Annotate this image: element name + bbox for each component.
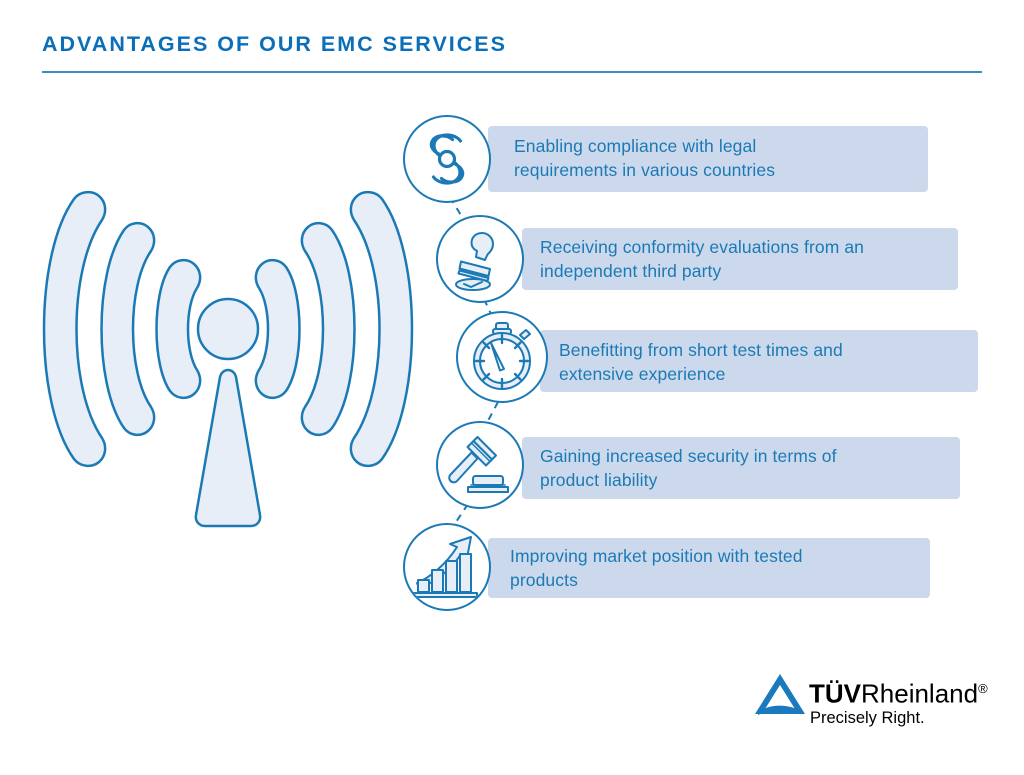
gavel-icon [438, 423, 522, 507]
logo-brand-bold: TÜV [809, 679, 861, 709]
advantage-text-2: Receiving conformity evaluations from an… [540, 236, 970, 283]
advantage-icon-5[interactable] [403, 523, 491, 611]
logo-wordmark: TÜVRheinland® [809, 674, 988, 709]
advantage-text-1: Enabling compliance with legal requireme… [514, 135, 934, 182]
advantage-icon-2[interactable] [436, 215, 524, 303]
slide-canvas: ADVANTAGES OF OUR EMC SERVICES [0, 0, 1024, 775]
advantages-list: Enabling compliance with legal requireme… [0, 0, 1024, 775]
advantage-text-4: Gaining increased security in terms of p… [540, 445, 960, 492]
rubber-stamp-icon [438, 217, 522, 301]
tuv-rheinland-logo: TÜVRheinland® Precisely Right. [752, 670, 992, 736]
logo-brand-regular: Rheinland [861, 679, 978, 709]
registered-trademark-icon: ® [978, 681, 988, 696]
advantage-text-3: Benefitting from short test times and ex… [559, 339, 979, 386]
advantage-icon-1[interactable] [403, 115, 491, 203]
triangle-swoosh-icon [752, 672, 808, 718]
logo-tagline: Precisely Right. [810, 709, 925, 728]
stopwatch-icon [458, 313, 546, 401]
advantage-text-5: Improving market position with tested pr… [510, 545, 930, 592]
section-sign-icon [405, 117, 489, 201]
tuv-rheinland-triangle-icon [752, 672, 808, 718]
advantage-icon-4[interactable] [436, 421, 524, 509]
advantage-icon-3[interactable] [456, 311, 548, 403]
growth-chart-icon [405, 525, 489, 609]
